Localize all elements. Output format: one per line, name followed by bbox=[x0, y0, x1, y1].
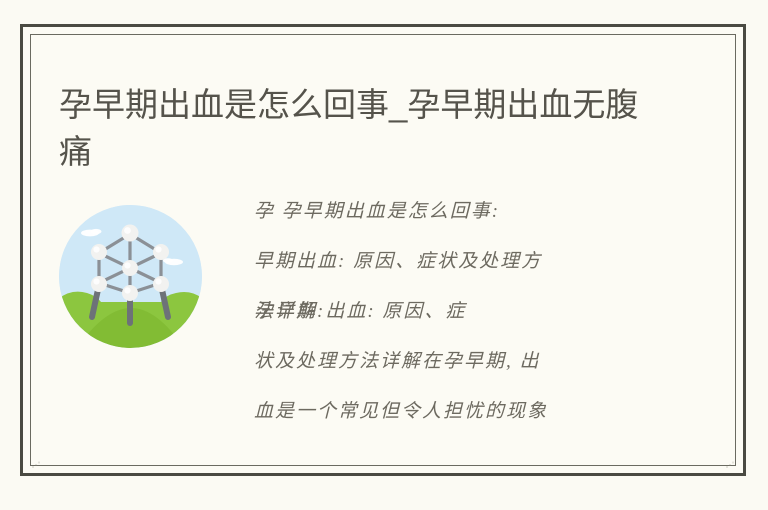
article-page: 孕早期出血是怎么回事_孕早期出血无腹痛 bbox=[0, 0, 768, 510]
corner-speck-bottom-right bbox=[725, 460, 735, 470]
atomium-illustration-icon bbox=[59, 205, 202, 348]
summary-line-3: 法详解 孕早期 法详解:出血: 原因、症 bbox=[254, 287, 682, 337]
page-title: 孕早期出血是怎么回事_孕早期出血无腹痛 bbox=[59, 81, 669, 175]
decorative-frame-outer: 孕早期出血是怎么回事_孕早期出血无腹痛 bbox=[20, 24, 746, 476]
summary-line-5: 血是一个常见但令人担忧的现象 bbox=[254, 387, 682, 437]
summary-line-3-layer-b: 孕早期 bbox=[254, 287, 317, 337]
article-summary: 孕 孕早期出血是怎么回事: 早期出血: 原因、症状及处理方 法详解 孕早期 法详… bbox=[254, 187, 682, 437]
summary-line-3-tail: :出血: 原因、症 bbox=[317, 301, 466, 322]
summary-line-1: 孕 孕早期出血是怎么回事: bbox=[254, 187, 682, 237]
corner-speck-bottom-left bbox=[31, 460, 41, 470]
article-body-row: 孕 孕早期出血是怎么回事: 早期出血: 原因、症状及处理方 法详解 孕早期 法详… bbox=[59, 187, 709, 457]
summary-line-4: 状及处理方法详解在孕早期, 出 bbox=[254, 337, 682, 387]
summary-line-2: 早期出血: 原因、症状及处理方 bbox=[254, 237, 682, 287]
